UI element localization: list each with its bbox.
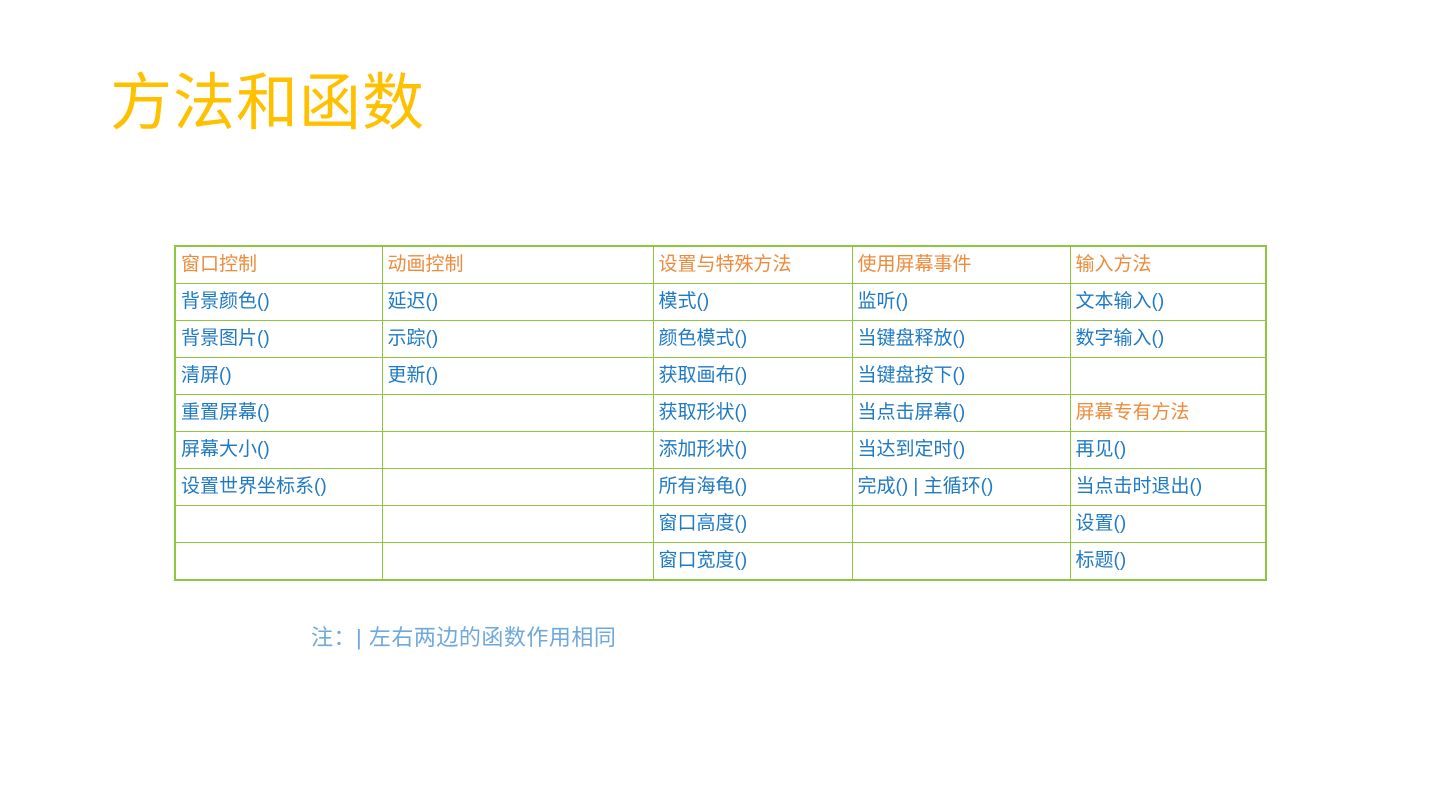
table-column-header: 设置与特殊方法: [653, 246, 852, 284]
table-row: 背景颜色()延迟()模式()监听()文本输入(): [175, 284, 1266, 321]
table-note: 注：| 左右两边的函数作用相同: [311, 620, 616, 652]
table-cell: 窗口宽度(): [653, 543, 852, 581]
table-cell: 当键盘释放(): [852, 321, 1070, 358]
table-cell-empty: [852, 506, 1070, 543]
table-cell: 背景图片(): [175, 321, 382, 358]
table-cell-empty: [382, 543, 653, 581]
table-cell: 当点击屏幕(): [852, 395, 1070, 432]
table-column-header: 输入方法: [1070, 246, 1266, 284]
table-cell: 数字输入(): [1070, 321, 1266, 358]
table-row: 屏幕大小()添加形状()当达到定时()再见(): [175, 432, 1266, 469]
table-cell-empty: [382, 469, 653, 506]
table-cell: 更新(): [382, 358, 653, 395]
table-column-header: 窗口控制: [175, 246, 382, 284]
table-cell: 添加形状(): [653, 432, 852, 469]
table-cell: 获取形状(): [653, 395, 852, 432]
table-cell-empty: [175, 506, 382, 543]
page-title: 方法和函数: [110, 70, 425, 138]
table-cell: 模式(): [653, 284, 852, 321]
table-cell: 屏幕大小(): [175, 432, 382, 469]
table-cell: 当达到定时(): [852, 432, 1070, 469]
table-column-header: 使用屏幕事件: [852, 246, 1070, 284]
table-row: 设置世界坐标系()所有海龟()完成() | 主循环()当点击时退出(): [175, 469, 1266, 506]
table-cell: 设置世界坐标系(): [175, 469, 382, 506]
table-row: 窗口宽度()标题(): [175, 543, 1266, 581]
table-cell-empty: [852, 543, 1070, 581]
table-cell: 背景颜色(): [175, 284, 382, 321]
table-cell-empty: [382, 395, 653, 432]
table-cell: 文本输入(): [1070, 284, 1266, 321]
table-cell: 监听(): [852, 284, 1070, 321]
table-cell: 当点击时退出(): [1070, 469, 1266, 506]
table-cell: 清屏(): [175, 358, 382, 395]
table-cell: 所有海龟(): [653, 469, 852, 506]
table-cell-empty: [1070, 358, 1266, 395]
table-cell: 重置屏幕(): [175, 395, 382, 432]
table-cell-empty: [382, 432, 653, 469]
table-cell: 窗口高度(): [653, 506, 852, 543]
methods-table-container: 窗口控制动画控制设置与特殊方法使用屏幕事件输入方法背景颜色()延迟()模式()监…: [174, 245, 1265, 581]
table-row: 清屏()更新()获取画布()当键盘按下(): [175, 358, 1266, 395]
table-cell: 获取画布(): [653, 358, 852, 395]
table-cell-empty: [175, 543, 382, 581]
table-column-header: 动画控制: [382, 246, 653, 284]
slide-canvas: 方法和函数 窗口控制动画控制设置与特殊方法使用屏幕事件输入方法背景颜色()延迟(…: [0, 0, 1440, 810]
table-cell: 示踪(): [382, 321, 653, 358]
table-cell: 标题(): [1070, 543, 1266, 581]
table-cell: 再见(): [1070, 432, 1266, 469]
table-cell: 颜色模式(): [653, 321, 852, 358]
methods-table: 窗口控制动画控制设置与特殊方法使用屏幕事件输入方法背景颜色()延迟()模式()监…: [174, 245, 1267, 581]
table-cell: 屏幕专有方法: [1070, 395, 1266, 432]
table-cell: 设置(): [1070, 506, 1266, 543]
table-row: 重置屏幕()获取形状()当点击屏幕()屏幕专有方法: [175, 395, 1266, 432]
table-cell: 当键盘按下(): [852, 358, 1070, 395]
table-row: 窗口高度()设置(): [175, 506, 1266, 543]
table-cell: 完成() | 主循环(): [852, 469, 1070, 506]
table-cell-empty: [382, 506, 653, 543]
table-cell: 延迟(): [382, 284, 653, 321]
table-header-row: 窗口控制动画控制设置与特殊方法使用屏幕事件输入方法: [175, 246, 1266, 284]
table-row: 背景图片()示踪()颜色模式()当键盘释放()数字输入(): [175, 321, 1266, 358]
